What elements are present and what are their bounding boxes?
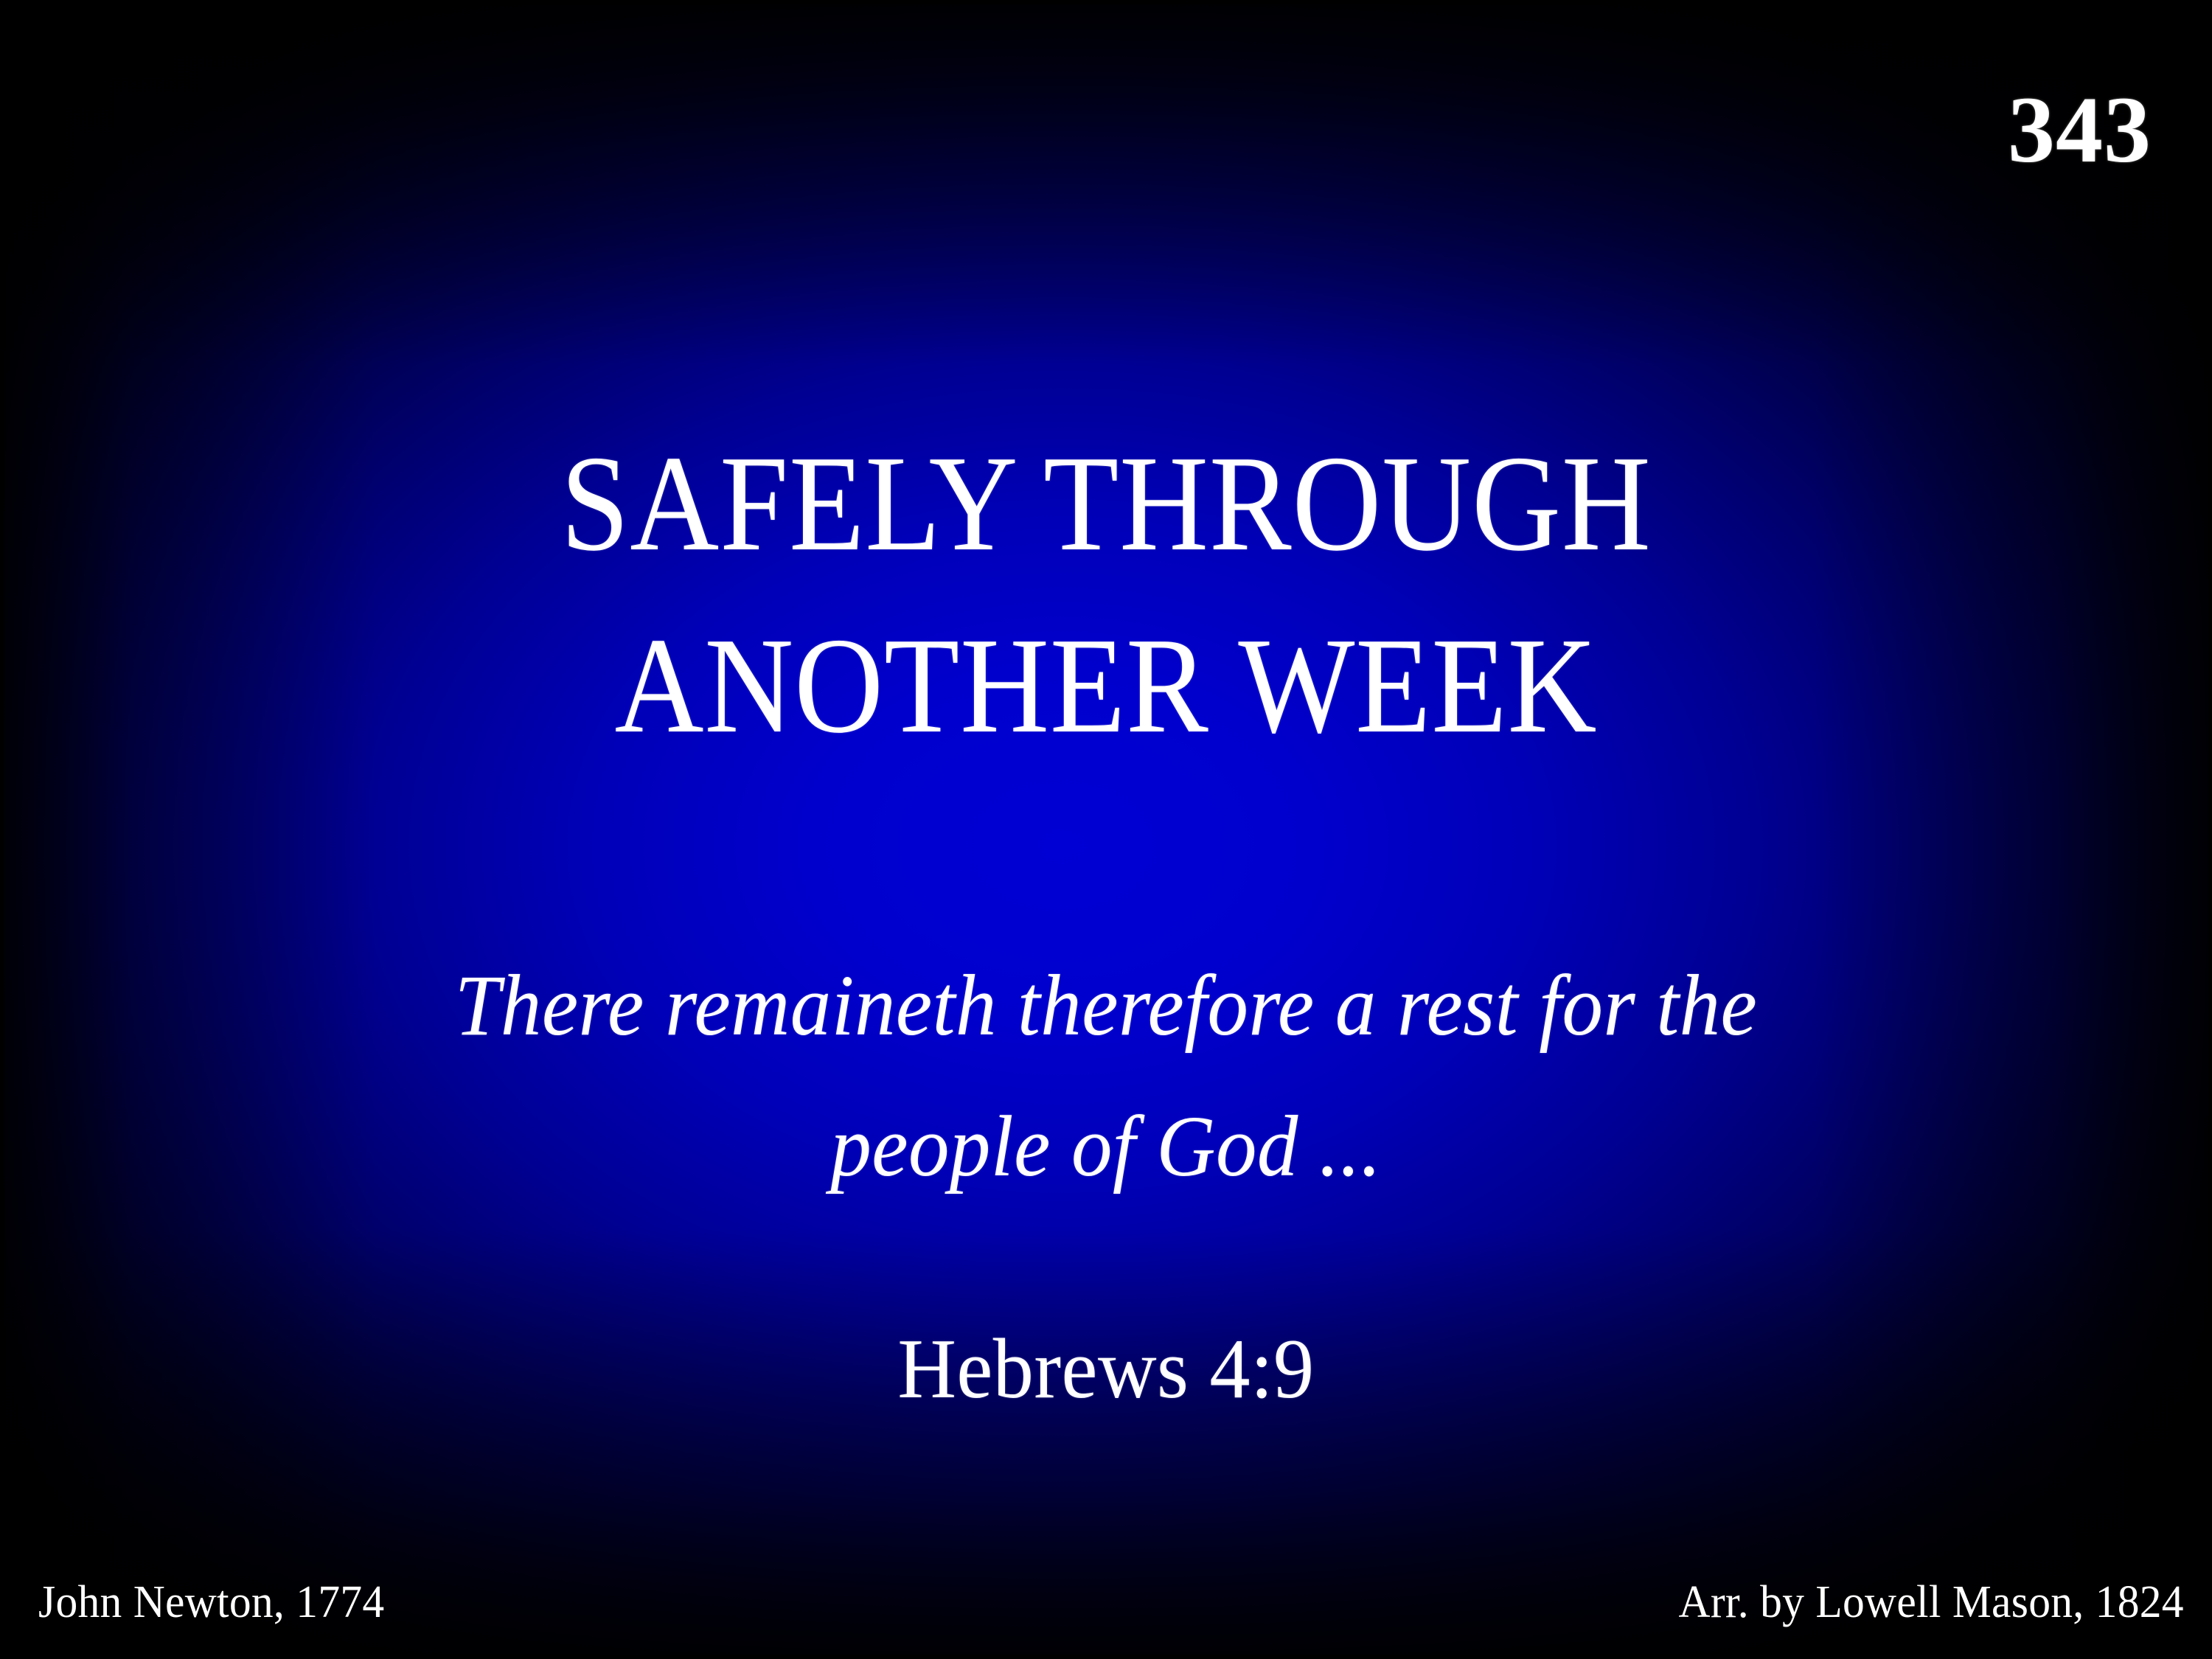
hymn-number: 343 [2008, 83, 2152, 177]
slide-footer: John Newton, 1774 Arr. by Lowell Mason, … [38, 1579, 2184, 1627]
hymn-title-line-2: ANOTHER WEEK [111, 595, 2101, 777]
hymn-title: SAFELY THROUGH ANOTHER WEEK [0, 413, 2212, 778]
hymn-title-line-1: SAFELY THROUGH [111, 413, 2101, 595]
credit-arranger: Arr. by Lowell Mason, 1824 [1679, 1579, 2184, 1627]
scripture-reference: Hebrews 4:9 [55, 1318, 2157, 1421]
credit-author: John Newton, 1774 [38, 1579, 384, 1627]
scripture-line-1: There remaineth therefore a rest for the [66, 935, 2146, 1076]
scripture-line-2: people of God ... [66, 1076, 2146, 1217]
scripture-passage: There remaineth therefore a rest for the… [0, 935, 2212, 1217]
hymn-slide: 343 SAFELY THROUGH ANOTHER WEEK There re… [0, 0, 2212, 1659]
